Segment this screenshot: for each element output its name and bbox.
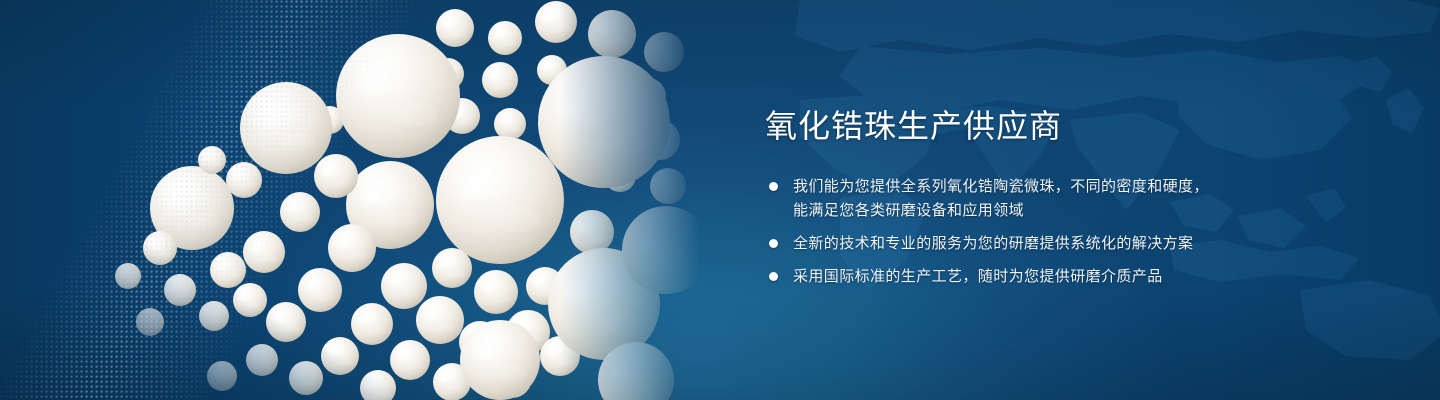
list-item-line: 能满足您各类研磨设备和应用领域 — [793, 198, 1385, 222]
page-title: 氧化锆珠生产供应商 — [765, 106, 1385, 146]
banner-copy: 氧化锆珠生产供应商 我们能为您提供全系列氧化锆陶瓷微珠，不同的密度和硬度， 能满… — [765, 106, 1385, 288]
filled-circle-icon — [769, 272, 778, 281]
list-item: 采用国际标准的生产工艺，随时为您提供研磨介质产品 — [765, 264, 1385, 288]
zirconia-beads-photo — [0, 0, 700, 400]
filled-circle-icon — [769, 182, 778, 191]
hero-banner: 氧化锆珠生产供应商 我们能为您提供全系列氧化锆陶瓷微珠，不同的密度和硬度， 能满… — [0, 0, 1440, 400]
list-item: 我们能为您提供全系列氧化锆陶瓷微珠，不同的密度和硬度， 能满足您各类研磨设备和应… — [765, 174, 1385, 222]
list-item-line: 全新的技术和专业的服务为您的研磨提供系统化的解决方案 — [793, 231, 1385, 255]
filled-circle-icon — [769, 239, 778, 248]
list-item-line: 我们能为您提供全系列氧化锆陶瓷微珠，不同的密度和硬度， — [793, 174, 1385, 198]
list-item: 全新的技术和专业的服务为您的研磨提供系统化的解决方案 — [765, 231, 1385, 255]
feature-list: 我们能为您提供全系列氧化锆陶瓷微珠，不同的密度和硬度， 能满足您各类研磨设备和应… — [765, 174, 1385, 288]
list-item-line: 采用国际标准的生产工艺，随时为您提供研磨介质产品 — [793, 264, 1385, 288]
